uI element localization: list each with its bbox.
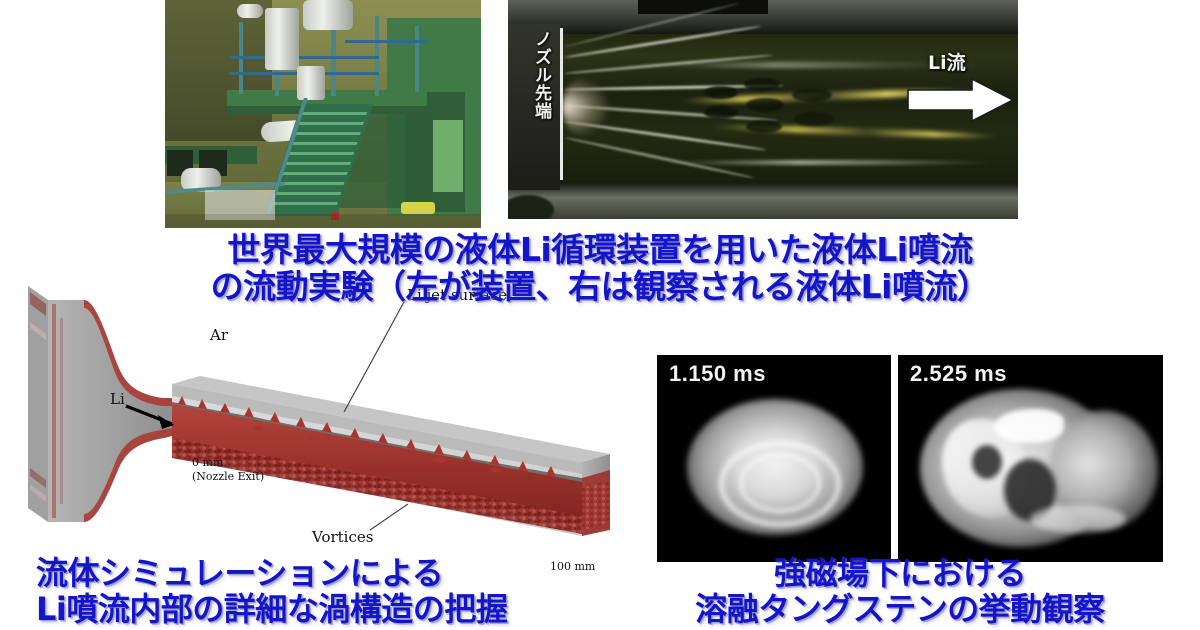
jet-cell-6 [792,88,832,102]
photo-vessel-main [265,8,299,70]
simulation-caption: 流体シミュレーションによる Li噴流内部の詳細な渦構造の把握 [36,556,507,628]
lithium-jet-photo: ノズル先端 Li流 [508,0,1018,219]
tungsten-frame-2: 2.525 ms [898,355,1163,562]
photo-vessel-lower [297,66,325,100]
facility-photo [165,0,481,228]
top-caption-line1: 世界最大規模の液体Li循環装置を用いた液体Li噴流 [0,232,1200,269]
tungsten-void-b [972,445,1002,479]
tungsten-caption: 強磁場下における 溶融タングステンの挙動観察 [640,556,1160,628]
simulation-caption-line2: Li噴流内部の詳細な渦構造の把握 [36,592,507,628]
cfd-simulation-figure: Li jet surface Ar Li 0 mm (Nozzle Exit) … [22,278,622,578]
top-caption: 世界最大規模の液体Li循環装置を用いた液体Li噴流 の流動実験（左が装置、右は観… [0,232,1200,306]
tungsten-frame-1: 1.150 ms [657,355,891,562]
photo-cabinet [433,120,463,192]
label-scale-100mm: 100 mm [550,560,595,573]
nozzle-tip-label: ノズル先端 [528,30,554,170]
label-vortices: Vortices [312,528,373,546]
top-caption-line2: の流動実験（左が装置、右は観察される液体Li噴流） [0,269,1200,306]
tungsten-timestamp-1: 1.150 ms [669,361,766,387]
jet-cell-5 [746,120,782,133]
jet-nozzle-edge-line [560,28,563,180]
label-nozzle-exit-line2: (Nozzle Exit) [192,470,264,484]
jet-cell-3 [744,78,780,91]
jet-cell-4 [746,98,784,112]
li-flow-label: Li流 [928,48,966,75]
jet-cell-1 [704,86,738,99]
tungsten-ring-inner-1 [739,453,821,513]
tungsten-fragment-b [994,409,1064,443]
label-li-inlet: Li [110,390,125,408]
photo-vessel-top [303,0,353,30]
tungsten-caption-line2: 溶融タングステンの挙動観察 [640,592,1160,628]
tungsten-tail [1030,505,1126,533]
label-nozzle-exit: 0 mm (Nozzle Exit) [192,456,264,484]
label-nozzle-exit-line1: 0 mm [192,456,264,470]
photo-floor-shadow [165,214,481,228]
photo-wall-shadow [165,0,272,141]
photo-rail-1 [229,56,379,59]
poster-canvas: ノズル先端 Li流 [0,0,1200,630]
tungsten-timestamp-2: 2.525 ms [910,361,1007,387]
tungsten-caption-line1: 強磁場下における [640,556,1160,592]
jet-exit-glow [562,78,608,136]
photo-support-5 [415,26,419,92]
jet-highlight-band-2 [668,160,998,165]
flow-direction-arrow-icon [906,76,1016,124]
simulation-caption-line1: 流体シミュレーションによる [36,556,507,592]
label-ar-gas: Ar [210,326,228,344]
jet-cell-7 [794,112,834,126]
jet-cell-2 [704,106,738,119]
jet-channel-bottom [508,183,1018,219]
photo-valve-assembly [237,4,263,18]
photo-rail-3 [345,40,427,43]
photo-yellow-item [401,202,435,214]
